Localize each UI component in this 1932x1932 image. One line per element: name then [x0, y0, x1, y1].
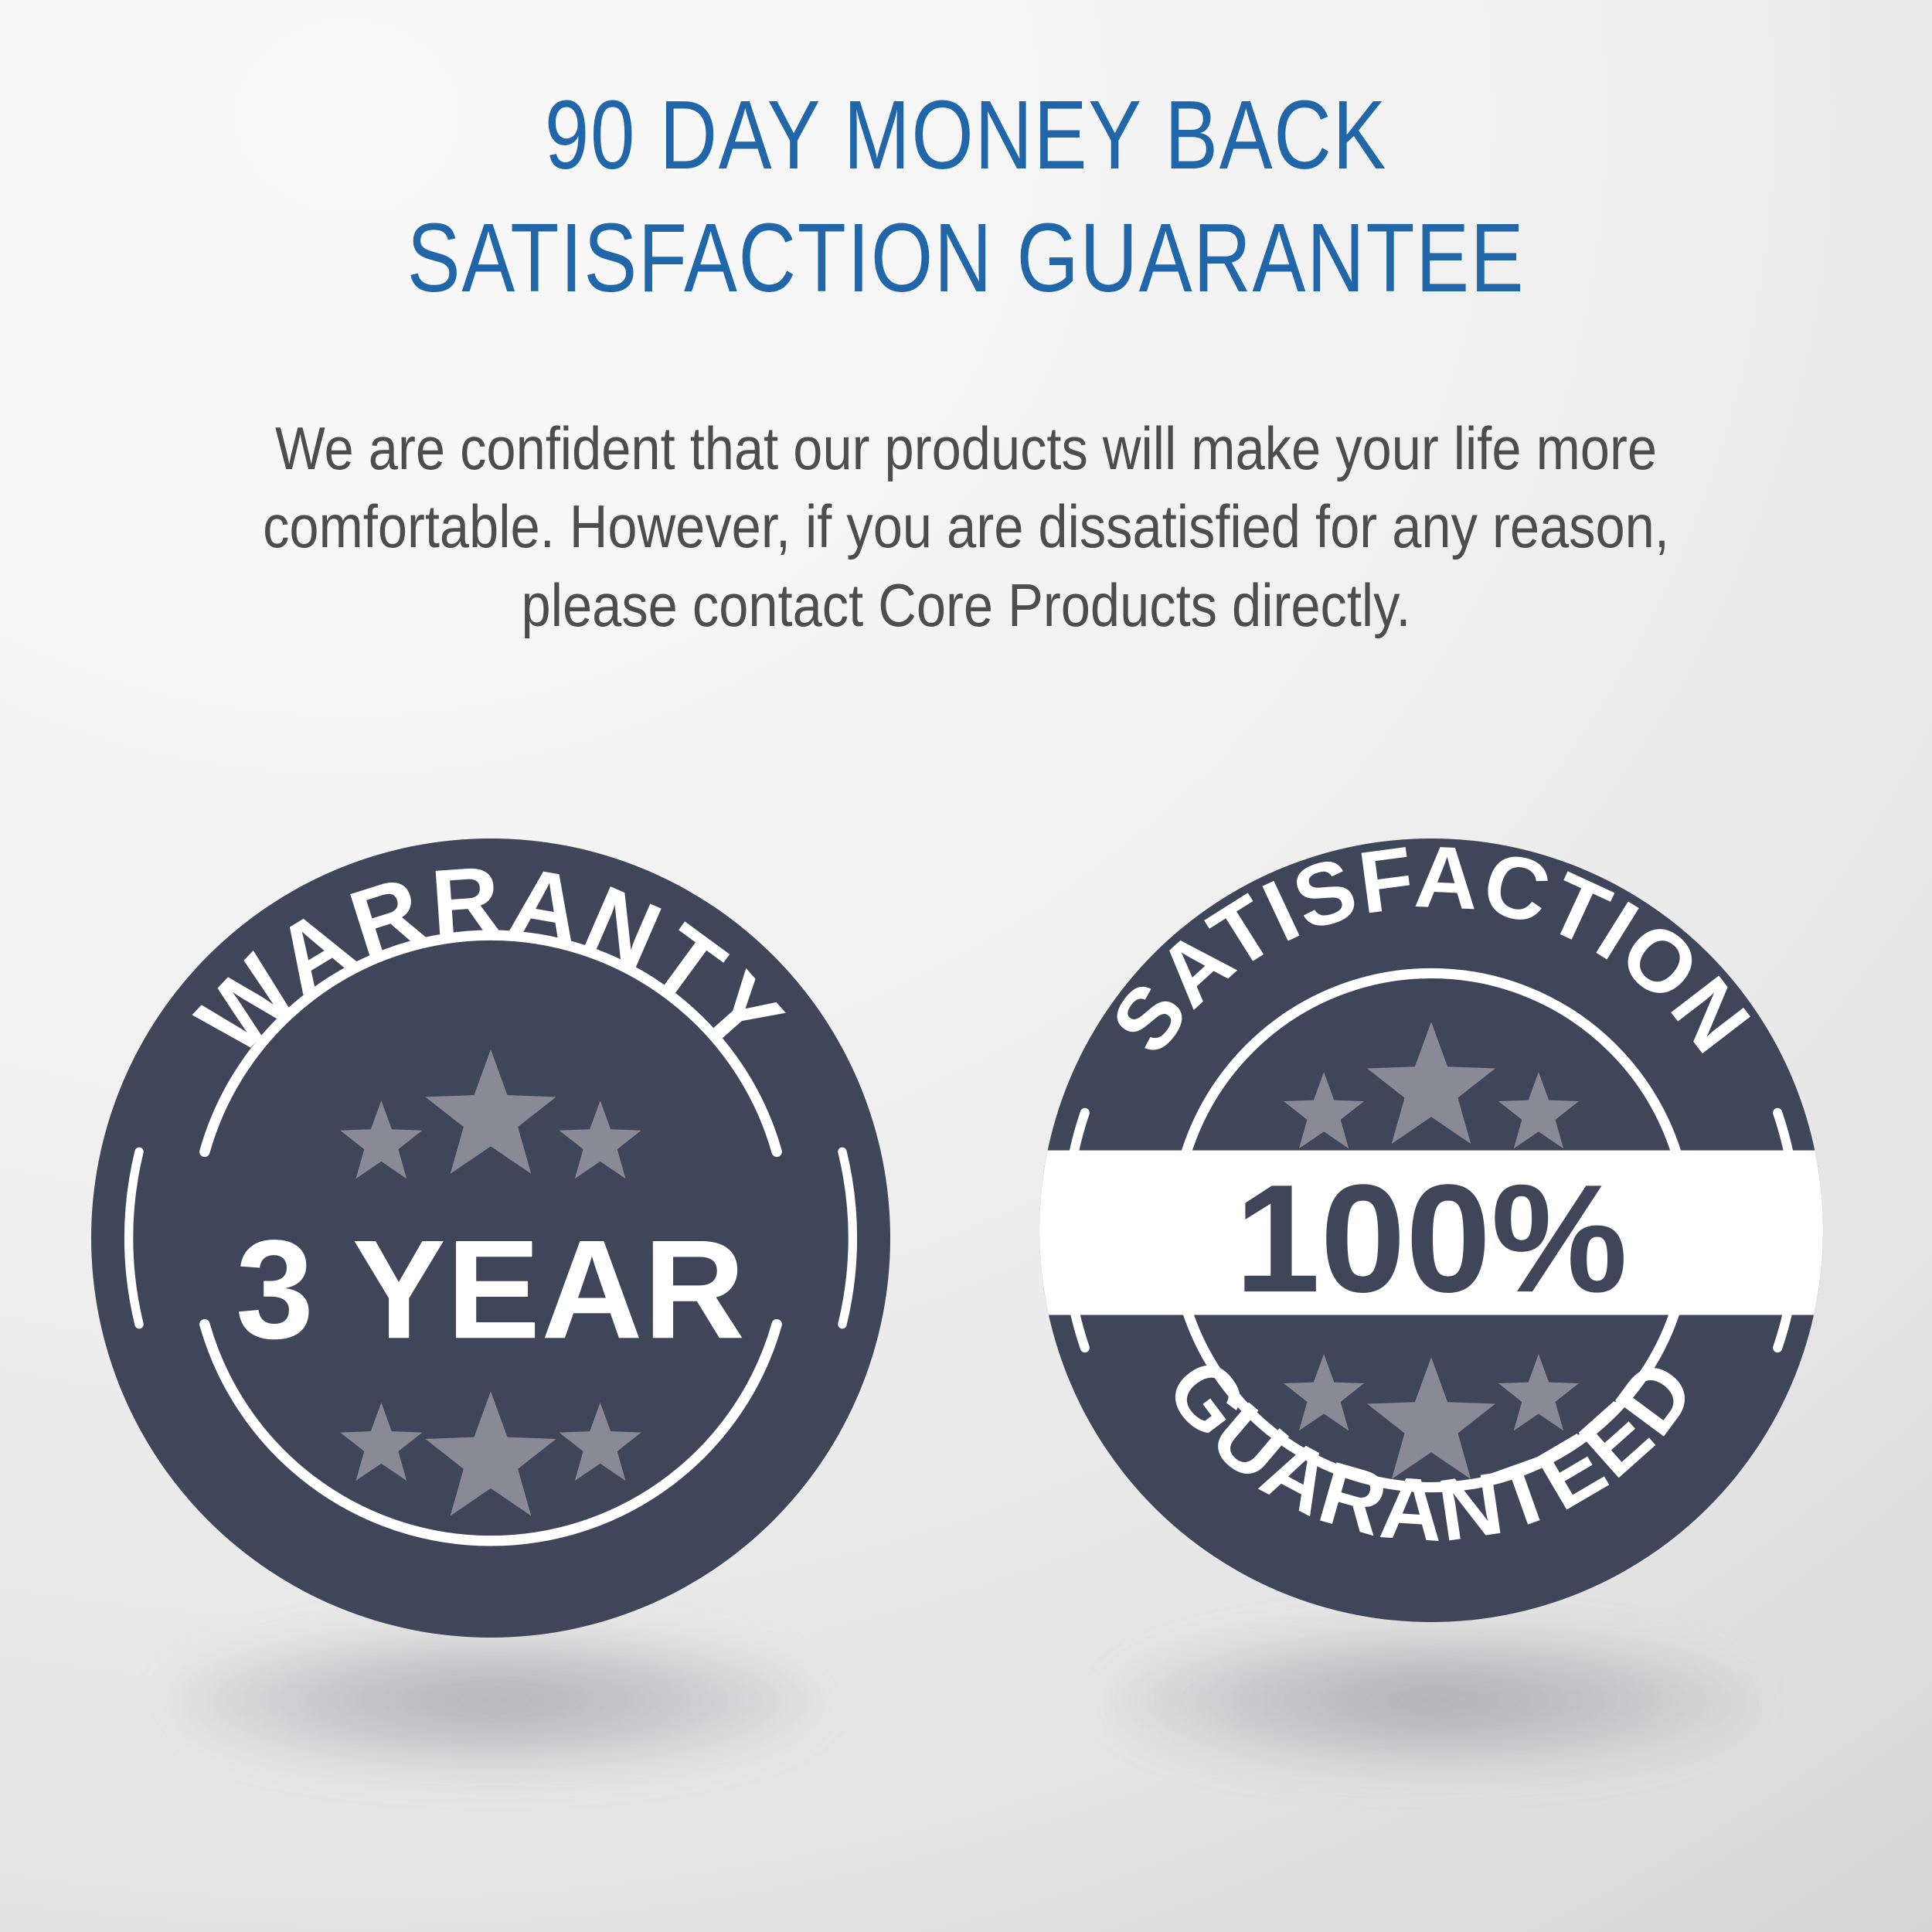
body-line-1: We are confident that our products will … — [116, 410, 1816, 488]
headline: 90 DAY MONEY BACK SATISFACTION GUARANTEE — [174, 74, 1758, 320]
satisfaction-badge: 100% SATISFACTION GUARANTEED — [1039, 838, 1823, 1622]
headline-line-2: SATISFACTION GUARANTEE — [174, 197, 1758, 320]
warranty-center-text: 3 YEAR — [236, 1210, 746, 1368]
warranty-badge-graphic: WARRANTY 3 YEAR — [91, 838, 890, 1638]
page-title: 90 DAY MONEY BACK SATISFACTION GUARANTEE — [0, 74, 1932, 320]
guarantee-page: 90 DAY MONEY BACK SATISFACTION GUARANTEE… — [0, 0, 1932, 1932]
satisfaction-band-text: 100% — [1235, 1153, 1628, 1325]
badge-row: WARRANTY 3 YEAR — [0, 838, 1932, 1689]
warranty-badge: WARRANTY 3 YEAR — [91, 838, 890, 1638]
body-paragraph: We are confident that our products will … — [0, 410, 1932, 645]
body-line-3: please contact Core Products directly. — [116, 566, 1816, 645]
headline-line-1: 90 DAY MONEY BACK — [174, 74, 1758, 197]
satisfaction-badge-graphic: 100% SATISFACTION GUARANTEED — [1039, 838, 1823, 1622]
body-line-2: comfortable. However, if you are dissati… — [116, 488, 1816, 566]
